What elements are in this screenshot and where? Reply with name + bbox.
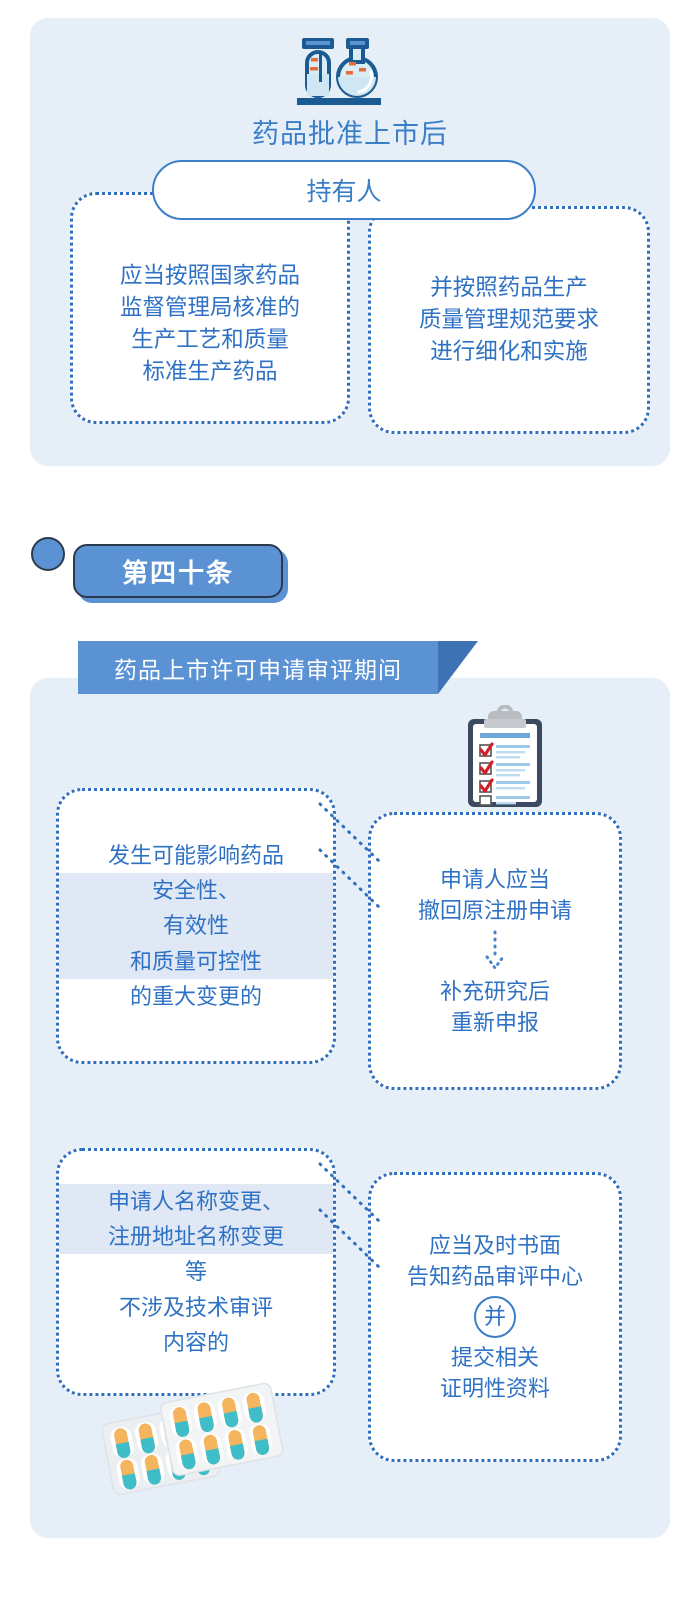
circled-conjunction: 并 xyxy=(474,1296,516,1338)
pill-blister-pack-icon xyxy=(100,1368,300,1520)
card-line: 监督管理局核准的 xyxy=(73,292,347,324)
infographic-canvas: 药品批准上市后 持有人 应当按照国家药品 监督管理局核准的 生产工艺和质量 标准… xyxy=(0,0,700,1612)
middle-left-card: 发生可能影响药品 安全性、 有效性 和质量可控性 的重大变更的 xyxy=(56,788,336,1064)
ribbon-label: 药品上市许可申请审评期间 xyxy=(78,641,438,694)
card-line: 安全性、 xyxy=(59,873,333,908)
card-line: 的重大变更的 xyxy=(59,979,333,1014)
card-line: 有效性 xyxy=(59,908,333,943)
ribbon-tail xyxy=(438,641,478,694)
bullet-dot-icon xyxy=(31,537,65,571)
holder-pill-label: 持有人 xyxy=(152,160,536,220)
card-line: 进行细化和实施 xyxy=(371,336,647,368)
clipboard-checklist-icon xyxy=(460,705,550,810)
card-line: 应当及时书面 xyxy=(371,1230,619,1261)
card-line: 等 xyxy=(59,1254,333,1289)
arrow-down-icon xyxy=(484,930,506,972)
bottom-right-card: 应当及时书面 告知药品审评中心 并 提交相关 证明性资料 xyxy=(368,1172,622,1462)
card-line: 发生可能影响药品 xyxy=(59,838,333,873)
card-line: 提交相关 xyxy=(371,1342,619,1373)
top-right-card: 并按照药品生产 质量管理规范要求 进行细化和实施 xyxy=(368,206,650,434)
card-line: 标准生产药品 xyxy=(73,356,347,388)
card-line: 重新申报 xyxy=(371,1007,619,1038)
card-line: 生产工艺和质量 xyxy=(73,324,347,356)
card-line: 不涉及技术审评 xyxy=(59,1290,333,1325)
card-line: 内容的 xyxy=(59,1325,333,1360)
card-line: 应当按照国家药品 xyxy=(73,260,347,292)
top-left-card: 应当按照国家药品 监督管理局核准的 生产工艺和质量 标准生产药品 xyxy=(70,192,350,424)
card-line: 和质量可控性 xyxy=(59,944,333,979)
card-line: 证明性资料 xyxy=(371,1373,619,1404)
card-line: 并按照药品生产 xyxy=(371,272,647,304)
card-line: 申请人名称变更、 xyxy=(59,1184,333,1219)
card-line: 质量管理规范要求 xyxy=(371,304,647,336)
article-badge[interactable]: 第四十条 xyxy=(73,544,283,598)
bottom-left-card: 申请人名称变更、 注册地址名称变更 等 不涉及技术审评 内容的 xyxy=(56,1148,336,1396)
card-line: 告知药品审评中心 xyxy=(371,1261,619,1292)
connector-bottom xyxy=(318,1160,388,1280)
card-line: 补充研究后 xyxy=(371,976,619,1007)
card-line: 撤回原注册申请 xyxy=(371,895,619,926)
connector-middle xyxy=(318,800,388,920)
lab-flask-icon xyxy=(291,30,387,108)
section-ribbon: 药品上市许可申请审评期间 xyxy=(78,641,478,694)
page-title: 药品批准上市后 xyxy=(0,112,700,151)
card-line: 注册地址名称变更 xyxy=(59,1219,333,1254)
middle-right-card: 申请人应当 撤回原注册申请 补充研究后 重新申报 xyxy=(368,812,622,1090)
card-line: 申请人应当 xyxy=(371,864,619,895)
